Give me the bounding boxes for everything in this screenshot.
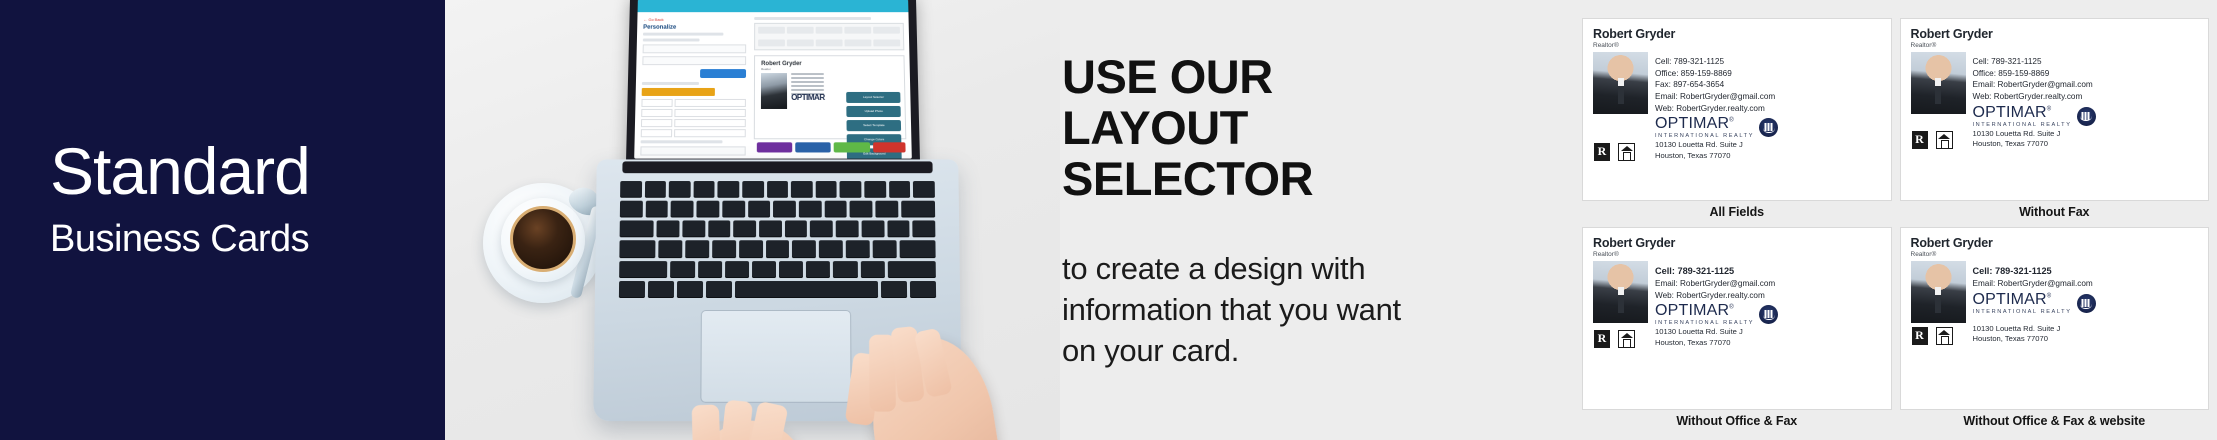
screen-field-cell — [641, 129, 673, 137]
optimar-logo: OPTIMAR® — [1655, 303, 1754, 319]
card-contact-line: Email: RobertGryder@gmail.com — [1973, 278, 2199, 290]
card-address: 10130 Louetta Rd. Suite JHouston, Texas … — [1973, 129, 2061, 150]
laptop-screen: ← Go Back Personalize — [634, 0, 912, 159]
card-person-name: Robert Gryder — [1593, 27, 1881, 41]
card-contact-info: Cell: 789-321-1125Office: 859-159-8869Em… — [1973, 52, 2199, 128]
business-card-preview[interactable]: Robert GryderRealtor®Cell: 789-321-1125E… — [1900, 227, 2210, 410]
screen-toolbar-item — [873, 40, 900, 47]
screen-preview-button — [757, 142, 793, 152]
key — [833, 261, 857, 278]
key — [645, 201, 668, 218]
screen-card-line — [791, 85, 824, 87]
card-headshot-photo — [1593, 261, 1648, 323]
page-title: Standard — [50, 138, 430, 204]
card-brand-row: OPTIMAR®INTERNATIONAL REALTY — [1973, 292, 2199, 315]
key — [840, 181, 862, 198]
layout-option-1[interactable]: Robert GryderRealtor®Cell: 789-321-1125O… — [1582, 18, 1892, 223]
laptop-scene-image: ← Go Back Personalize — [445, 0, 1060, 440]
screen-toolbar-item — [787, 40, 814, 47]
optimar-logo: OPTIMAR® — [1973, 105, 2072, 121]
key — [708, 221, 731, 238]
company-seal-icon — [1759, 118, 1778, 137]
key-cmd-right — [881, 281, 907, 298]
screen-card-line — [791, 89, 824, 91]
key-ctrl — [648, 281, 674, 298]
key-shift-right — [887, 261, 935, 278]
layout-options-grid: Robert GryderRealtor®Cell: 789-321-1125O… — [1578, 0, 2217, 440]
key — [752, 261, 776, 278]
layout-option-caption: Without Fax — [1900, 201, 2210, 223]
finger — [692, 404, 721, 440]
screen-field-cell — [641, 109, 673, 117]
screen-field-cell — [675, 109, 746, 117]
keyboard-row — [619, 261, 936, 278]
realtor-icon — [1912, 327, 1928, 345]
screen-input-field — [642, 56, 746, 65]
promo-headline-line-1: USE OUR — [1062, 52, 1313, 103]
key — [671, 201, 694, 218]
business-card-preview[interactable]: Robert GryderRealtor®Cell: 789-321-1125E… — [1582, 227, 1892, 410]
coffee-liquid — [510, 206, 576, 272]
key-alt-right — [910, 281, 936, 298]
key — [697, 201, 720, 218]
business-card-preview[interactable]: Robert GryderRealtor®Cell: 789-321-1125O… — [1900, 18, 2210, 201]
card-address-line-2: Houston, Texas 77070 — [1973, 334, 2061, 344]
card-contact-line: Email: RobertGryder@gmail.com — [1655, 91, 1881, 103]
card-contact-line: Cell: 789-321-1125 — [1655, 56, 1881, 68]
screen-toolbar-item — [844, 27, 871, 34]
layout-option-4[interactable]: Robert GryderRealtor®Cell: 789-321-1125E… — [1900, 227, 2210, 432]
optimar-tagline: INTERNATIONAL REALTY — [1973, 309, 2072, 315]
card-address: 10130 Louetta Rd. Suite JHouston, Texas … — [1655, 327, 1743, 348]
finger — [717, 400, 753, 440]
card-brand-block: OPTIMAR®INTERNATIONAL REALTY — [1973, 105, 2072, 128]
card-contact-line: Cell: 789-321-1125 — [1973, 265, 2199, 278]
equal-housing-opportunity-icon — [1936, 327, 1953, 345]
screen-left-panel: ← Go Back Personalize — [634, 12, 751, 158]
screen-text-line — [642, 82, 699, 85]
card-body: Cell: 789-321-1125Email: RobertGryder@gm… — [1593, 261, 1881, 326]
screen-card-line — [791, 81, 824, 83]
screen-toolbar-row — [755, 24, 903, 37]
card-footer-icons — [1911, 327, 1966, 345]
card-headshot-photo — [1911, 52, 1966, 114]
card-brand-block: OPTIMAR®INTERNATIONAL REALTY — [1655, 116, 1754, 139]
company-seal-icon — [2077, 107, 2096, 126]
key — [861, 221, 884, 238]
company-seal-icon — [2077, 294, 2096, 313]
equal-housing-opportunity-icon — [1618, 143, 1635, 161]
card-brand-row: OPTIMAR®INTERNATIONAL REALTY — [1973, 105, 2199, 128]
layout-option-caption: Without Office & Fax — [1582, 410, 1892, 432]
card-brand-row: OPTIMAR®INTERNATIONAL REALTY — [1655, 116, 1881, 139]
card-address-line-1: 10130 Louetta Rd. Suite J — [1973, 324, 2061, 334]
card-headshot-photo — [1593, 52, 1648, 114]
layout-option-2[interactable]: Robert GryderRealtor®Cell: 789-321-1125O… — [1900, 18, 2210, 223]
key — [779, 261, 803, 278]
card-body: Cell: 789-321-1125Office: 859-159-8869Em… — [1911, 52, 2199, 128]
key-shift — [619, 261, 667, 278]
card-person-name: Robert Gryder — [1911, 236, 2199, 250]
key — [658, 241, 682, 258]
key — [698, 261, 722, 278]
laptop-hinge — [622, 161, 932, 173]
screen-toolbar-item — [873, 27, 900, 34]
realtor-icon — [1594, 330, 1610, 348]
key — [682, 221, 705, 238]
key — [876, 201, 899, 218]
screen-card-brand: OPTIMAR — [791, 93, 824, 95]
screen-right-panel: Robert Gryder Realtor OP — [751, 12, 912, 158]
key — [846, 241, 870, 258]
key-tab — [620, 221, 654, 238]
screen-field-cell — [641, 99, 672, 107]
key — [718, 181, 740, 198]
card-contact-info: Cell: 789-321-1125Email: RobertGryder@gm… — [1973, 261, 2199, 323]
screen-text-line — [643, 39, 700, 42]
layout-option-3[interactable]: Robert GryderRealtor®Cell: 789-321-1125E… — [1582, 227, 1892, 432]
card-contact-line: Office: 859-159-8869 — [1655, 68, 1881, 80]
optimar-logo: OPTIMAR® — [1655, 116, 1754, 132]
card-person-role: Realtor® — [1593, 251, 1881, 258]
promo-banner: Standard Business Cards ← Go Back Person… — [0, 0, 2217, 440]
key — [748, 201, 771, 218]
realtor-icon — [1594, 143, 1610, 161]
key — [645, 181, 667, 198]
card-address-line-2: Houston, Texas 77070 — [1973, 139, 2061, 149]
equal-housing-opportunity-icon — [1936, 131, 1953, 149]
card-address-line-1: 10130 Louetta Rd. Suite J — [1655, 327, 1743, 337]
page-subtitle: Business Cards — [50, 220, 430, 258]
screen-left-heading: Personalize — [643, 25, 746, 31]
card-footer: 10130 Louetta Rd. Suite JHouston, Texas … — [1911, 324, 2199, 345]
card-person-role: Realtor® — [1911, 251, 2199, 258]
realtor-icon — [1912, 131, 1928, 149]
optimar-tagline: INTERNATIONAL REALTY — [1655, 320, 1754, 326]
screen-field-cell — [641, 119, 673, 127]
card-person-role: Realtor® — [1593, 42, 1881, 49]
screen-card-contact-lines: OPTIMAR — [791, 73, 825, 109]
laptop-lid: ← Go Back Personalize — [626, 0, 920, 171]
key — [620, 201, 643, 218]
screen-side-button: Select Template — [847, 120, 901, 131]
key — [819, 241, 843, 258]
card-address-line-2: Houston, Texas 77070 — [1655, 338, 1743, 348]
promo-subcopy-line-1: to create a design with — [1062, 248, 1401, 289]
key — [693, 181, 715, 198]
key — [836, 221, 859, 238]
card-contact-line: Email: RobertGryder@gmail.com — [1655, 278, 1881, 290]
screen-primary-button — [700, 69, 746, 78]
key — [759, 221, 782, 238]
card-body: Cell: 789-321-1125Office: 859-159-8869Fa… — [1593, 52, 1881, 139]
card-contact-line: Fax: 897-654-3654 — [1655, 79, 1881, 91]
key — [620, 181, 642, 198]
screen-app-topbar — [638, 0, 909, 12]
screen-toolbar-item — [787, 27, 814, 34]
key — [913, 181, 935, 198]
key — [739, 241, 763, 258]
key — [816, 181, 838, 198]
card-address: 10130 Louetta Rd. Suite JHouston, Texas … — [1655, 140, 1743, 161]
key-capslock — [619, 241, 655, 258]
card-brand-block: OPTIMAR®INTERNATIONAL REALTY — [1973, 292, 2072, 315]
equal-housing-opportunity-icon — [1618, 330, 1635, 348]
key-fn — [619, 281, 645, 298]
key — [913, 221, 936, 238]
screen-toolbar-item — [816, 40, 843, 47]
laptop-trackpad — [700, 310, 851, 403]
screen-toolbar-row — [755, 37, 903, 50]
promo-subcopy-line-3: on your card. — [1062, 330, 1401, 371]
card-address-line-1: 10130 Louetta Rd. Suite J — [1655, 140, 1743, 150]
hero-panel: Standard Business Cards — [0, 0, 445, 440]
screen-card-preview: Robert Gryder Realtor OP — [754, 55, 906, 139]
card-contact-line: Office: 859-159-8869 — [1973, 68, 2199, 80]
card-body: Cell: 789-321-1125Email: RobertGryder@gm… — [1911, 261, 2199, 323]
card-footer-icons — [1911, 131, 1966, 149]
hero-text-block: Standard Business Cards — [50, 138, 430, 258]
screen-back-link: ← Go Back — [643, 17, 746, 22]
screen-highlight-button — [642, 88, 715, 96]
key — [864, 181, 886, 198]
card-footer-icons — [1593, 143, 1648, 161]
screen-input-field — [640, 146, 745, 155]
key — [792, 241, 816, 258]
screen-chat-button — [873, 142, 906, 152]
laptop-base — [593, 159, 962, 421]
card-contact-line: Cell: 789-321-1125 — [1973, 56, 2199, 68]
promo-headline: USE OUR LAYOUT SELECTOR — [1062, 52, 1313, 204]
key — [733, 221, 756, 238]
card-address-line-2: Houston, Texas 77070 — [1655, 151, 1743, 161]
screen-text-line — [641, 140, 723, 143]
key-alt — [677, 281, 703, 298]
optimar-tagline: INTERNATIONAL REALTY — [1655, 133, 1754, 139]
card-person-name: Robert Gryder — [1593, 236, 1881, 250]
key — [657, 221, 680, 238]
card-address-line-1: 10130 Louetta Rd. Suite J — [1973, 129, 2061, 139]
promo-subcopy: to create a design with information that… — [1062, 248, 1401, 372]
key — [742, 181, 763, 198]
screen-card-line — [791, 73, 824, 75]
key — [791, 181, 812, 198]
layout-option-caption: Without Office & Fax & website — [1900, 410, 2210, 432]
key — [766, 241, 790, 258]
screen-toolbar-item — [758, 27, 785, 34]
card-brand-block: OPTIMAR®INTERNATIONAL REALTY — [1655, 303, 1754, 326]
card-footer: 10130 Louetta Rd. Suite JHouston, Texas … — [1911, 129, 2199, 150]
card-contact-info: Cell: 789-321-1125Office: 859-159-8869Fa… — [1655, 52, 1881, 139]
screen-card-line — [791, 77, 824, 79]
screen-breadcrumb — [754, 17, 871, 20]
screen-addtocart-button — [796, 142, 832, 152]
layout-options-panel: Robert GryderRealtor®Cell: 789-321-1125O… — [1578, 0, 2217, 440]
keyboard-row — [620, 181, 935, 198]
key — [850, 201, 873, 218]
screen-toolbar-item — [758, 40, 785, 47]
key — [806, 261, 830, 278]
key — [669, 181, 691, 198]
card-brand-row: OPTIMAR®INTERNATIONAL REALTY — [1655, 303, 1881, 326]
promo-subcopy-line-2: information that you want — [1062, 289, 1401, 330]
card-contact-line: Email: RobertGryder@gmail.com — [1973, 79, 2199, 91]
screen-app-body: ← Go Back Personalize — [634, 12, 912, 158]
key — [767, 181, 788, 198]
card-contact-line: Cell: 789-321-1125 — [1655, 265, 1881, 278]
key — [712, 241, 736, 258]
key — [799, 201, 822, 218]
card-contact-line: Web: RobertGryder.realty.com — [1973, 91, 2199, 103]
card-contact-line: Web: RobertGryder.realty.com — [1655, 103, 1881, 115]
screen-input-field — [643, 44, 747, 53]
key — [873, 241, 897, 258]
key — [889, 181, 911, 198]
business-card-preview[interactable]: Robert GryderRealtor®Cell: 789-321-1125O… — [1582, 18, 1892, 201]
laptop-keyboard — [619, 181, 936, 298]
key — [887, 221, 910, 238]
screen-toolbar-item — [816, 27, 843, 34]
key — [722, 201, 745, 218]
screen-text-line — [643, 33, 724, 36]
screen-field-grid — [641, 99, 746, 137]
screen-side-button: Layout Selector — [847, 92, 901, 103]
key — [824, 201, 847, 218]
screen-field-cell — [674, 129, 746, 137]
card-address: 10130 Louetta Rd. Suite JHouston, Texas … — [1973, 324, 2061, 345]
screen-save-button — [834, 142, 870, 152]
key — [685, 241, 709, 258]
card-footer-icons — [1593, 330, 1648, 348]
keyboard-row — [620, 221, 936, 238]
layout-option-caption: All Fields — [1582, 201, 1892, 223]
promo-copy: USE OUR LAYOUT SELECTOR to create a desi… — [1062, 0, 1522, 440]
key — [785, 221, 808, 238]
key — [725, 261, 749, 278]
screen-card-role: Realtor — [761, 67, 898, 71]
keyboard-row — [619, 281, 936, 298]
key — [860, 261, 884, 278]
key-backspace — [901, 201, 935, 218]
card-contact-info: Cell: 789-321-1125Email: RobertGryder@gm… — [1655, 261, 1881, 326]
optimar-tagline: INTERNATIONAL REALTY — [1973, 122, 2072, 128]
screen-field-cell — [674, 119, 745, 127]
key-space — [735, 281, 878, 298]
screen-editor-toolbar — [754, 23, 904, 50]
promo-headline-line-2: LAYOUT — [1062, 103, 1313, 154]
key-cmd — [706, 281, 732, 298]
screen-field-cell — [675, 99, 746, 107]
card-footer: 10130 Louetta Rd. Suite JHouston, Texas … — [1593, 327, 1881, 348]
company-seal-icon — [1759, 305, 1778, 324]
screen-card-headshot — [761, 73, 787, 109]
key — [810, 221, 833, 238]
card-person-role: Realtor® — [1911, 42, 2199, 49]
keyboard-row — [619, 241, 935, 258]
screen-bottom-button-bar — [757, 142, 906, 152]
card-footer: 10130 Louetta Rd. Suite JHouston, Texas … — [1593, 140, 1881, 161]
card-person-name: Robert Gryder — [1911, 27, 2199, 41]
keyboard-row — [620, 201, 935, 218]
screen-side-button: Upload Photo — [847, 106, 901, 117]
screen-toolbar-item — [845, 40, 872, 47]
key — [773, 201, 796, 218]
card-headshot-photo — [1911, 261, 1966, 323]
promo-headline-line-3: SELECTOR — [1062, 154, 1313, 205]
optimar-logo: OPTIMAR® — [1973, 292, 2072, 308]
card-contact-line: Web: RobertGryder.realty.com — [1655, 290, 1881, 302]
key-enter — [900, 241, 936, 258]
key — [670, 261, 694, 278]
